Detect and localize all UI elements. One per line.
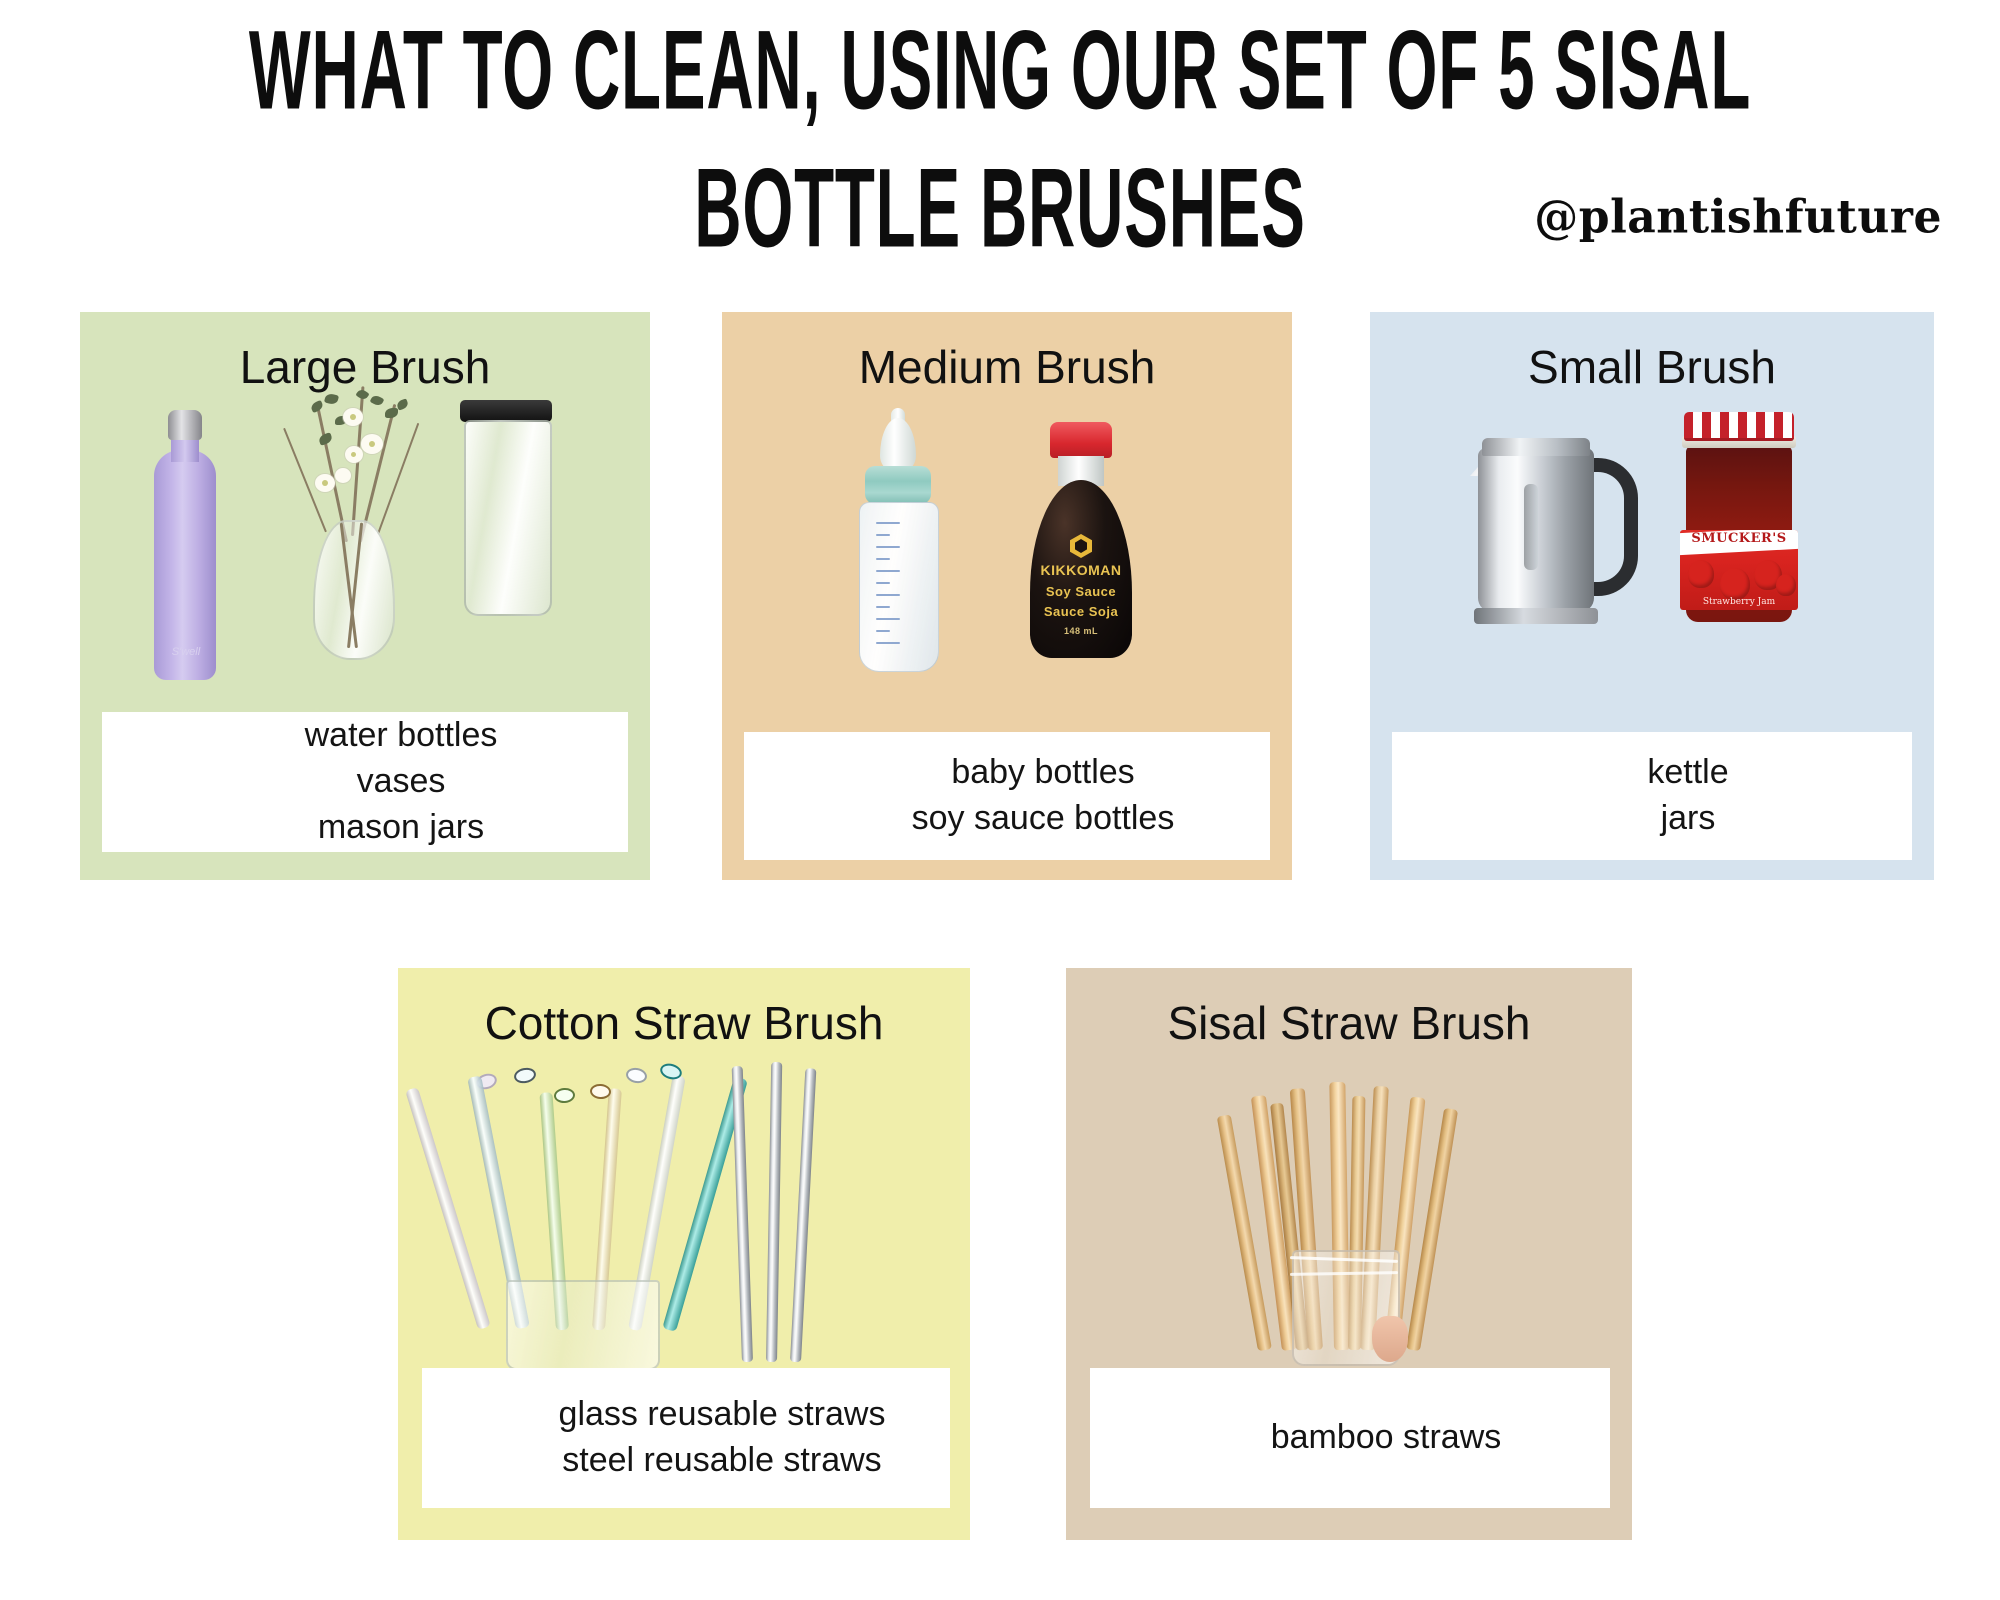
- item-label: jars: [1661, 796, 1716, 842]
- item-label: water bottles: [305, 713, 498, 759]
- item-label: kettle: [1647, 750, 1728, 796]
- item-label: soy sauce bottles: [912, 796, 1175, 842]
- water-bottle-brand-label: S'well: [166, 646, 206, 658]
- jam-brand-label: SMUCKER'S: [1680, 531, 1798, 546]
- item-label: bamboo straws: [1271, 1415, 1502, 1461]
- card-small-brush: Small Brush SMUCKER'S Strawberry Jam ket…: [1370, 312, 1934, 880]
- flower-vase-image: [285, 372, 419, 672]
- textbox-cotton-straw-brush: glass reusable straws steel reusable str…: [422, 1368, 950, 1508]
- item-label: mason jars: [318, 805, 484, 851]
- textbox-medium-brush: baby bottles soy sauce bottles: [744, 732, 1270, 860]
- steel-straws-image: [720, 1060, 830, 1366]
- baby-bottle-image: [850, 418, 946, 672]
- soy-sauce-line-1: Soy Sauce: [1030, 584, 1132, 599]
- card-medium-brush: Medium Brush KIKKOMAN Soy Sauce Sauce So…: [722, 312, 1292, 880]
- item-label: vases: [357, 759, 446, 805]
- soy-sauce-bottle-image: KIKKOMAN Soy Sauce Sauce Soja 148 mL: [1028, 422, 1134, 670]
- page-title-line-1: WHAT TO CLEAN, USING OUR SET OF 5 SISAL: [220, 6, 1780, 136]
- card-title-cotton-straw-brush: Cotton Straw Brush: [398, 996, 970, 1050]
- electric-kettle-image: [1468, 422, 1638, 632]
- soy-sauce-line-2: Sauce Soja: [1030, 604, 1132, 619]
- header: WHAT TO CLEAN, USING OUR SET OF 5 SISAL …: [0, 0, 2000, 300]
- jam-flavour-label: Strawberry Jam: [1680, 597, 1798, 607]
- water-bottle-image: S'well: [154, 410, 216, 672]
- textbox-sisal-straw-brush: bamboo straws: [1090, 1368, 1610, 1508]
- bamboo-straws-in-jar-image: [1230, 1072, 1460, 1364]
- textbox-small-brush: kettle jars: [1392, 732, 1912, 860]
- card-sisal-straw-brush: Sisal Straw Brush bamboo straws: [1066, 968, 1632, 1540]
- soy-sauce-volume-label: 148 mL: [1030, 626, 1132, 636]
- textbox-large-brush: water bottles vases mason jars: [102, 712, 628, 852]
- item-label: baby bottles: [951, 750, 1134, 796]
- card-cotton-straw-brush: Cotton Straw Brush glass reusable straws…: [398, 968, 970, 1540]
- item-label: steel reusable straws: [562, 1438, 881, 1484]
- card-title-medium-brush: Medium Brush: [722, 340, 1292, 394]
- card-large-brush: Large Brush S'well: [80, 312, 650, 880]
- item-label: glass reusable straws: [559, 1392, 886, 1438]
- social-handle: @plantishfuture: [1534, 191, 1942, 245]
- mason-jar-image: [454, 400, 558, 614]
- soy-sauce-brand-label: KIKKOMAN: [1030, 562, 1132, 578]
- card-title-sisal-straw-brush: Sisal Straw Brush: [1066, 996, 1632, 1050]
- card-title-small-brush: Small Brush: [1370, 340, 1934, 394]
- glass-straws-in-cup-image: [460, 1066, 700, 1366]
- jam-jar-image: SMUCKER'S Strawberry Jam: [1670, 412, 1808, 632]
